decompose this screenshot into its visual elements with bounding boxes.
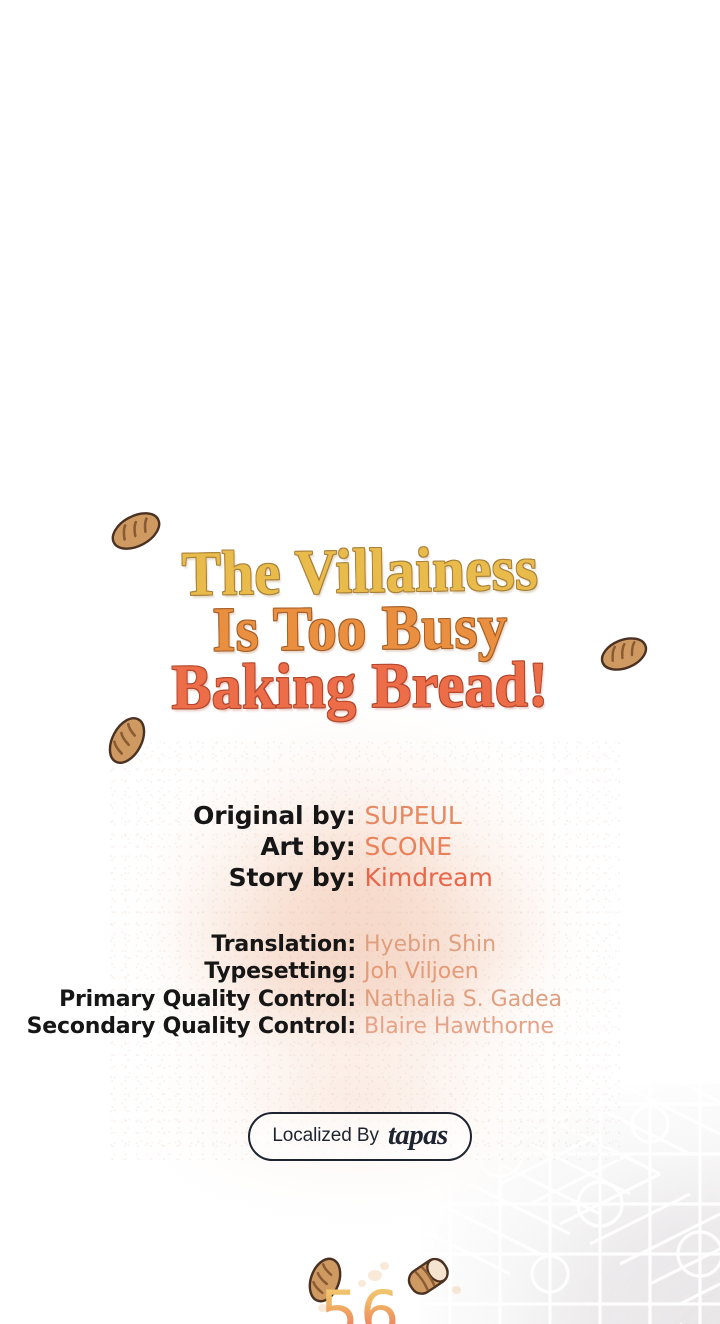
localized-by-label: Localized By [272,1125,379,1147]
chapter-title: The Villainess Is Too Busy Baking Bread! [0,540,720,718]
bread-loaf-icon [300,1250,351,1309]
title-line-3: Baking Bread! [25,651,695,720]
credit-row: Art by: SCONE [0,831,720,862]
credit-row: Original by: SUPEUL [0,800,720,831]
credit-value: SUPEUL [365,800,597,831]
credit-label: Story by: [124,862,365,893]
steam-puff [452,1286,461,1294]
chapter-number: 56 [0,1283,720,1324]
credit-label: Primary Quality Control: [26,986,364,1013]
chapter-title-page: The Villainess Is Too Busy Baking Bread!… [0,0,720,1324]
localized-by-badge[interactable]: Localized By tapas [248,1112,471,1161]
credit-label: Art by: [124,831,365,862]
tapas-wordmark: tapas [388,1122,448,1150]
credit-row: Secondary Quality Control: Blaire Hawtho… [0,1013,720,1040]
credit-value: Joh Viljoen [364,958,694,985]
credit-row: Translation: Hyebin Shin [0,931,720,958]
localized-by-badge-wrap: Localized By tapas [0,1112,720,1161]
steam-puff [358,1280,366,1287]
credit-label: Translation: [26,931,364,958]
credit-label: Typesetting: [26,958,364,985]
credit-row: Story by: Kimdream [0,862,720,893]
credits-block: Original by: SUPEUL Art by: SCONE Story … [0,800,720,1040]
credit-value: Blaire Hawthorne [364,1013,694,1040]
steam-puff [380,1262,389,1270]
credit-label: Secondary Quality Control: [26,1013,364,1040]
credit-row: Primary Quality Control: Nathalia S. Gad… [0,986,720,1013]
credits-group-creators: Original by: SUPEUL Art by: SCONE Story … [0,800,720,893]
credit-label: Original by: [124,800,365,831]
steam-puff [318,1304,327,1312]
bread-roll-icon [398,1248,458,1305]
credit-value: Nathalia S. Gadea [364,986,694,1013]
credit-value: SCONE [365,831,597,862]
credit-value: Kimdream [365,862,597,893]
steam-puff [368,1270,382,1281]
credit-value: Hyebin Shin [364,931,694,958]
credit-row: Typesetting: Joh Viljoen [0,958,720,985]
credits-group-staff: Translation: Hyebin Shin Typesetting: Jo… [0,931,720,1040]
